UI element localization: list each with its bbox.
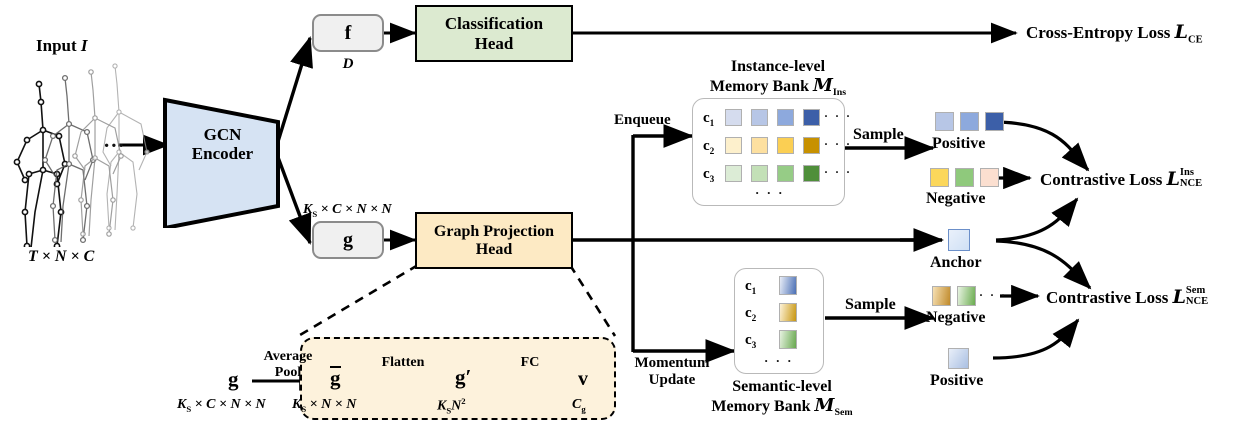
positive-label-instance: Positive	[932, 135, 985, 153]
contrastive-loss-sem-symbol: L	[1173, 286, 1186, 308]
sample-label-instance: Sample	[853, 126, 904, 144]
instance-row3-label: c	[703, 166, 710, 182]
curve-anchor-to-ins-loss	[996, 199, 1077, 240]
instance-bank-sub: Ins	[833, 87, 846, 98]
feature-g-symbol: g	[343, 229, 353, 252]
semantic-row3-index: 3	[752, 341, 757, 351]
graph-projection-head-line1: Graph Projection	[434, 223, 554, 241]
instance-swatch[interactable]	[725, 165, 742, 182]
positive-label-semantic: Positive	[930, 372, 983, 390]
instance-bank-title-line2-text: Memory Bank	[710, 78, 809, 95]
detail-flat-dim: KSN2	[437, 397, 466, 416]
dashed-guide-right	[570, 265, 615, 336]
avg-pool-line2: Pool	[245, 365, 331, 381]
contrastive-loss-ins-supsub: InsNCE	[1180, 168, 1202, 189]
negative-label-instance: Negative	[926, 190, 986, 208]
arrow-encoder-to-f	[276, 38, 310, 148]
instance-swatch[interactable]	[777, 165, 794, 182]
anchor-label: Anchor	[930, 254, 982, 272]
cross-entropy-loss-text: Cross-Entropy Loss	[1026, 23, 1170, 42]
contrastive-loss-ins-text: Contrastive Loss	[1040, 170, 1162, 189]
cross-entropy-loss-sub: CE	[1188, 34, 1203, 45]
curve-positive-to-ins-loss	[993, 122, 1088, 170]
instance-row2-label: c	[703, 138, 710, 154]
diagram-canvas: Input I	[0, 0, 1238, 433]
semantic-row1-label: c	[745, 278, 752, 294]
semantic-negative-swatch[interactable]	[932, 286, 951, 306]
instance-swatch[interactable]	[751, 137, 768, 154]
contrastive-loss-ins-sup: Ins	[1180, 168, 1202, 179]
input-label-text: Input	[36, 36, 77, 55]
instance-swatch[interactable]	[777, 137, 794, 154]
input-label: Input I	[36, 36, 88, 55]
avg-pool-label: Average Pool	[245, 349, 331, 380]
instance-swatch[interactable]	[803, 137, 820, 154]
feature-g-dim-text: KS × C × N × N	[303, 202, 392, 217]
semantic-swatch[interactable]	[779, 330, 797, 349]
semantic-bank-bottom-ellipsis: · · ·	[764, 353, 794, 369]
instance-row-ellipsis: · · ·	[824, 109, 852, 124]
avg-pool-line1: Average	[245, 349, 331, 365]
instance-row1-label: c	[703, 110, 710, 126]
skeleton-frame-1	[14, 81, 67, 247]
semantic-bank-title-line2: Memory Bank MSem	[692, 396, 872, 418]
input-symbol: I	[81, 36, 88, 55]
semantic-row3-label: c	[745, 332, 752, 348]
negative-label-semantic: Negative	[926, 309, 986, 327]
semantic-bank-row-label: c3	[745, 332, 756, 351]
instance-bank-bottom-ellipsis: · · ·	[755, 185, 785, 201]
detail-output-dim: Cg	[572, 397, 586, 415]
detail-input-symbol: g	[228, 368, 239, 392]
semantic-bank-title: Semantic-level Memory Bank MSem	[692, 378, 872, 418]
curve-anchor-to-sem-loss	[996, 241, 1090, 288]
instance-bank-title-line1: Instance-level	[688, 58, 868, 76]
dashed-guide-left	[300, 265, 418, 335]
semantic-bank-row-label: c1	[745, 278, 756, 297]
momentum-update-line1: Momentum	[612, 355, 732, 372]
contrastive-loss-sem: Contrastive Loss LSemNCE	[1046, 286, 1208, 308]
semantic-bank-sub: Sem	[834, 407, 852, 418]
arrow-encoder-to-g	[276, 152, 310, 243]
contrastive-loss-sem-text: Contrastive Loss	[1046, 288, 1168, 307]
semantic-bank-row-label: c2	[745, 305, 756, 324]
contrastive-loss-ins-symbol: L	[1167, 168, 1180, 190]
semantic-swatch[interactable]	[779, 276, 797, 295]
instance-swatch[interactable]	[803, 109, 820, 126]
instance-row2-index: 2	[710, 147, 715, 157]
detail-output-symbol: v	[578, 368, 588, 390]
flatten-label: Flatten	[358, 355, 448, 371]
sample-label-semantic: Sample	[845, 296, 896, 314]
semantic-negative-ellipsis: · · ·	[979, 288, 1007, 303]
skeleton-frame-2	[43, 76, 96, 243]
semantic-bank-title-line1: Semantic-level	[692, 378, 872, 396]
feature-g-dim: KS × C × N × N	[303, 202, 392, 220]
skeleton-ellipsis: ...	[104, 128, 126, 153]
semantic-negative-swatch[interactable]	[957, 286, 976, 306]
graph-projection-head[interactable]: Graph Projection Head	[415, 212, 573, 269]
detail-input-dim: KS × C × N × N	[177, 397, 266, 415]
classification-head-line2: Head	[445, 34, 543, 54]
detail-mid-symbol-text: g	[330, 366, 341, 389]
instance-bank-row-label: c2	[703, 138, 714, 157]
semantic-row2-index: 2	[752, 314, 757, 324]
negative-swatch[interactable]	[930, 168, 949, 187]
instance-row3-index: 3	[710, 175, 715, 185]
detail-flat-symbol: g′	[455, 366, 471, 390]
semantic-swatch[interactable]	[779, 303, 797, 322]
feature-f-symbol: f	[345, 22, 352, 45]
contrastive-loss-sem-sub: NCE	[1186, 297, 1208, 308]
classification-head-line1: Classification	[445, 14, 543, 34]
instance-swatch[interactable]	[725, 137, 742, 154]
instance-swatch[interactable]	[803, 165, 820, 182]
feature-f-capsule[interactable]: f	[312, 14, 384, 52]
instance-swatch[interactable]	[751, 165, 768, 182]
cross-entropy-loss-symbol: L	[1175, 21, 1188, 43]
gcn-encoder-label: GCN Encoder	[170, 125, 275, 163]
skeleton-frame-3	[73, 70, 123, 236]
instance-swatch[interactable]	[725, 109, 742, 126]
positive-swatch[interactable]	[935, 112, 954, 131]
feature-g-capsule[interactable]: g	[312, 221, 384, 259]
cross-entropy-loss: Cross-Entropy Loss LCE	[1026, 22, 1203, 46]
contrastive-loss-ins-sub: NCE	[1180, 179, 1202, 190]
anchor-swatch[interactable]	[948, 229, 970, 251]
instance-swatch[interactable]	[777, 109, 794, 126]
instance-bank-row-label: c1	[703, 110, 714, 129]
semantic-bank-title-line2-text: Memory Bank	[711, 398, 810, 415]
fc-label: FC	[490, 355, 570, 371]
semantic-row2-label: c	[745, 305, 752, 321]
detail-mid-dim: KS × N × N	[292, 397, 356, 415]
classification-head[interactable]: Classification Head	[415, 5, 573, 62]
contrastive-loss-sem-supsub: SemNCE	[1186, 286, 1208, 307]
gcn-encoder-line1: GCN	[170, 125, 275, 144]
instance-bank-title: Instance-level Memory Bank MIns	[688, 58, 868, 98]
instance-bank-title-line2: Memory Bank MIns	[688, 76, 868, 98]
negative-swatch[interactable]	[955, 168, 974, 187]
detail-mid-symbol: g	[330, 366, 341, 391]
curve-semantic-positive-to-loss	[993, 320, 1078, 358]
instance-bank-row-label: c3	[703, 166, 714, 185]
instance-row1-index: 1	[710, 119, 715, 129]
semantic-positive-swatch[interactable]	[948, 348, 969, 369]
feature-f-dim: D	[312, 56, 384, 73]
contrastive-loss-sem-sup: Sem	[1186, 286, 1208, 297]
positive-swatch[interactable]	[960, 112, 979, 131]
graph-projection-head-line2: Head	[434, 241, 554, 259]
negative-swatch[interactable]	[980, 168, 999, 187]
semantic-bank-symbol: M	[815, 395, 835, 416]
instance-row-ellipsis: · · ·	[824, 165, 852, 180]
contrastive-loss-ins: Contrastive Loss LInsNCE	[1040, 168, 1202, 190]
semantic-row1-index: 1	[752, 287, 757, 297]
instance-row-ellipsis: · · ·	[824, 137, 852, 152]
instance-bank-symbol: M	[813, 75, 833, 96]
gcn-encoder-line2: Encoder	[170, 144, 275, 163]
input-dims: T × N × C	[28, 248, 94, 266]
skeleton-sequence	[5, 62, 195, 247]
instance-swatch[interactable]	[751, 109, 768, 126]
positive-swatch[interactable]	[985, 112, 1004, 131]
enqueue-label: Enqueue	[614, 112, 671, 129]
